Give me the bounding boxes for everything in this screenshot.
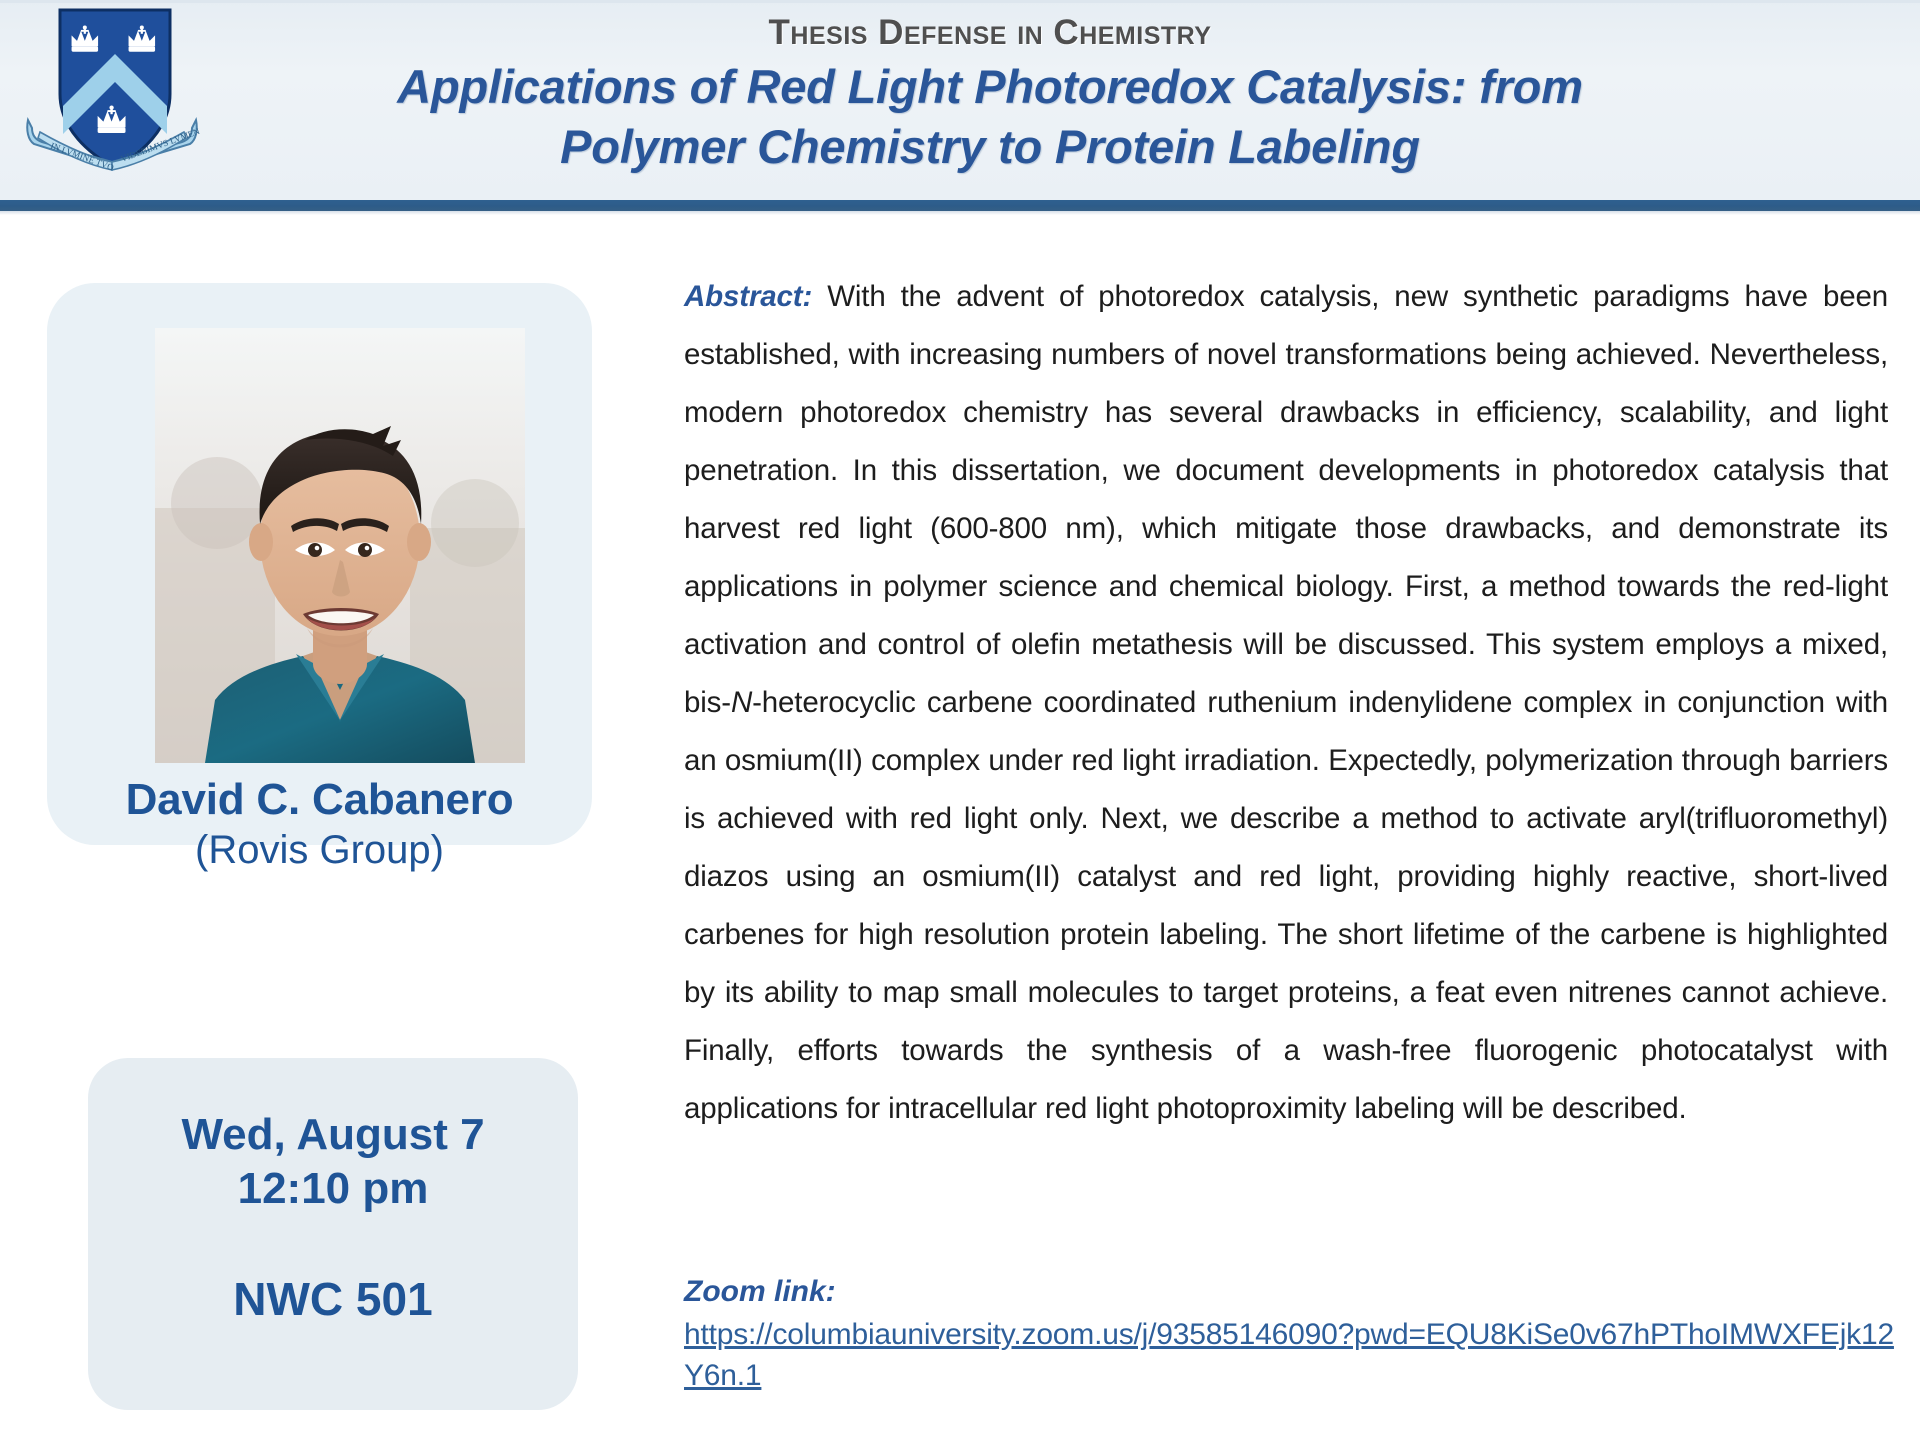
talk-title-line-2: Polymer Chemistry to Protein Labeling bbox=[210, 117, 1770, 177]
columbia-crest-icon: IN LVMINE TVO VIDEBIMVS LVMEN bbox=[22, 2, 202, 180]
event-date: Wed, August 7 bbox=[88, 1110, 578, 1160]
abstract-text: Abstract: With the advent of photoredox … bbox=[684, 268, 1888, 1138]
poster-kicker: Thesis Defense in Chemistry bbox=[210, 0, 1770, 53]
abstract-section: Abstract: With the advent of photoredox … bbox=[684, 268, 1888, 1138]
speaker-group: (Rovis Group) bbox=[47, 828, 592, 873]
abstract-part-2: -heterocyclic carbene coordinated ruthen… bbox=[684, 686, 1888, 1125]
event-time: 12:10 pm bbox=[88, 1164, 578, 1214]
page-title: Applications of Red Light Photoredox Cat… bbox=[210, 53, 1770, 177]
event-room: NWC 501 bbox=[88, 1272, 578, 1326]
zoom-link-label: Zoom link: bbox=[684, 1272, 1894, 1312]
speaker-card: David C. Cabanero (Rovis Group) bbox=[47, 283, 592, 845]
speaker-name: David C. Cabanero bbox=[47, 775, 592, 825]
header-divider-bar bbox=[0, 200, 1920, 211]
abstract-part-1: With the advent of photoredox catalysis,… bbox=[684, 280, 1888, 719]
talk-title-line-1: Applications of Red Light Photoredox Cat… bbox=[210, 57, 1770, 117]
abstract-italic-n: N bbox=[731, 686, 752, 719]
zoom-link-section: Zoom link: https://columbiauniversity.zo… bbox=[684, 1272, 1894, 1396]
abstract-label: Abstract: bbox=[684, 280, 812, 313]
header-text-block: Thesis Defense in Chemistry Applications… bbox=[210, 0, 1770, 200]
zoom-meeting-link[interactable]: https://columbiauniversity.zoom.us/j/935… bbox=[684, 1314, 1894, 1396]
poster-header: IN LVMINE TVO VIDEBIMVS LVMEN Thesis Def… bbox=[0, 0, 1920, 202]
header-divider-shadow bbox=[0, 211, 1920, 215]
event-details-card: Wed, August 7 12:10 pm NWC 501 bbox=[88, 1058, 578, 1410]
speaker-portrait bbox=[155, 328, 525, 763]
